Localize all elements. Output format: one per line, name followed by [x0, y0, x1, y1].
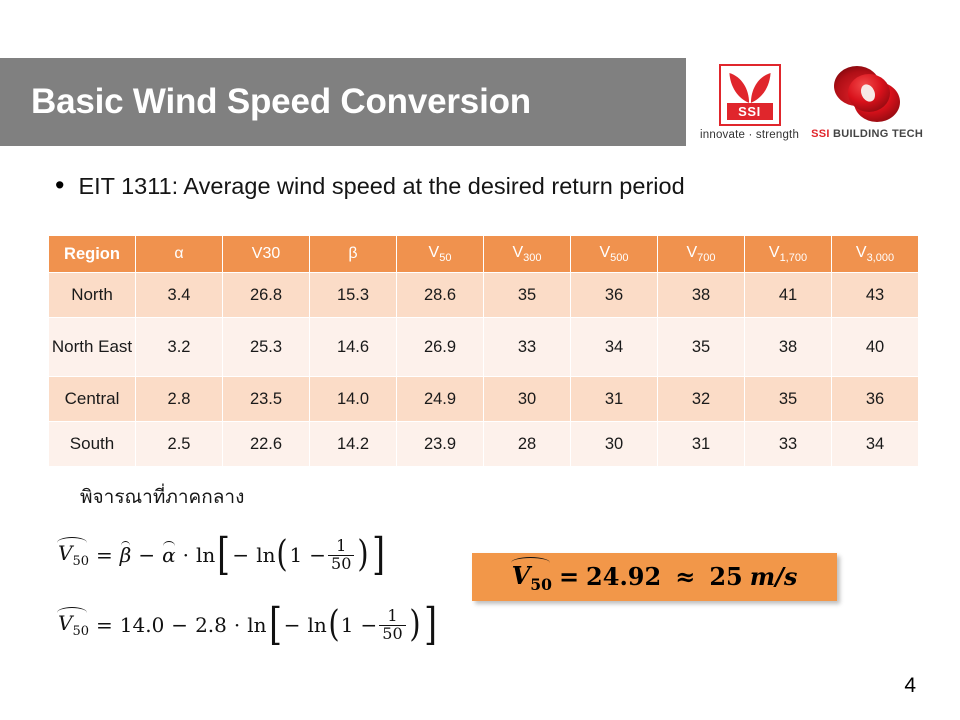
one-literal: 1 [341, 613, 354, 637]
header-label: V [429, 244, 440, 261]
header-label: β [348, 245, 357, 262]
header-label: α [174, 245, 183, 262]
table-cell: 38 [745, 318, 831, 376]
table-cell-region: North East [49, 318, 135, 376]
table-cell-region: North [49, 273, 135, 317]
table-cell: 15.3 [310, 273, 396, 317]
ssi-logo-mark: SSI [719, 64, 781, 126]
minus-frac: − [361, 613, 378, 637]
table-cell: 35 [658, 318, 744, 376]
dot-operator: · [183, 543, 189, 567]
table-cell: 36 [571, 273, 657, 317]
table-header-row-group: Region α V30 β V50 V300 V500 V700 V1,700… [49, 236, 918, 272]
header-sub: 300 [523, 252, 541, 264]
table-cell: 23.9 [397, 422, 483, 466]
ssi-logo: SSI innovate · strength [700, 64, 799, 141]
equation-symbolic: V50 = β − α · ln [ − ln ( 1 − 1 50 ) ] [58, 538, 388, 573]
v50-hat-symbol: V50 [512, 561, 552, 594]
bracket-close: ] [424, 609, 437, 641]
v-letter: V [58, 541, 72, 565]
table-cell: 14.2 [310, 422, 396, 466]
alpha-value: 2.8 [195, 613, 227, 637]
paren-close: ) [409, 612, 420, 638]
header-label: V [856, 244, 867, 261]
header-label: Region [64, 245, 120, 263]
table-header-v30: V30 [223, 236, 309, 272]
equals-sign: = [96, 543, 113, 567]
table-header-v3000: V3,000 [832, 236, 918, 272]
table-header-v1700: V1,700 [745, 236, 831, 272]
table-body: North 3.4 26.8 15.3 28.6 35 36 38 41 43 … [49, 273, 918, 466]
fraction-numerator: 1 [384, 608, 400, 625]
wind-speed-table: Region α V30 β V50 V300 V500 V700 V1,700… [48, 235, 919, 467]
table-cell: 31 [658, 422, 744, 466]
table-cell: 36 [832, 377, 918, 421]
page-number: 4 [904, 674, 916, 698]
header-label: V [686, 244, 697, 261]
ssi-logo-tagline: innovate · strength [700, 129, 799, 141]
table-cell: 2.5 [136, 422, 222, 466]
table-row: South 2.5 22.6 14.2 23.9 28 30 31 33 34 [49, 422, 918, 466]
one-literal: 1 [290, 543, 303, 567]
minus-inner: − [232, 543, 249, 567]
table-cell: 40 [832, 318, 918, 376]
table-cell: 35 [745, 377, 831, 421]
beta-hat-symbol: β [120, 543, 132, 567]
v-letter: V [58, 611, 72, 635]
header-label: V [769, 244, 780, 261]
table-cell: 2.8 [136, 377, 222, 421]
table-header-region: Region [49, 236, 135, 272]
table-cell: 23.5 [223, 377, 309, 421]
v-subscript: 50 [530, 574, 552, 593]
fraction-denominator: 50 [328, 555, 354, 573]
paren-open: ( [328, 612, 339, 638]
table-header-row: Region α V30 β V50 V300 V500 V700 V1,700… [49, 236, 918, 272]
table-row: Central 2.8 23.5 14.0 24.9 30 31 32 35 3… [49, 377, 918, 421]
result-highlight-box: V50 = 24.92 ≈ 25 m/s [472, 553, 837, 601]
thai-note: พิจารณาที่ภาคกลาง [80, 482, 244, 512]
ln-outer: ln [247, 613, 266, 637]
bullet-text: EIT 1311: Average wind speed at the desi… [78, 173, 684, 200]
table-cell: 26.8 [223, 273, 309, 317]
table-header-v500: V500 [571, 236, 657, 272]
ssi-building-tech-logo: SSI BUILDING TECH [811, 64, 923, 140]
fraction-one-over-fifty: 1 50 [328, 538, 354, 573]
table-cell-region: Central [49, 377, 135, 421]
table-cell-region: South [49, 422, 135, 466]
header-label: V30 [252, 245, 280, 262]
header-sub: 700 [697, 252, 715, 264]
table-cell: 33 [745, 422, 831, 466]
result-equation: V50 = 24.92 ≈ 25 m/s [512, 561, 798, 594]
v50-hat-symbol: V50 [58, 541, 89, 569]
fraction-one-over-fifty: 1 50 [379, 608, 405, 643]
table-cell: 31 [571, 377, 657, 421]
building-tech-tagline-rest: BUILDING TECH [830, 128, 923, 140]
table-cell: 33 [484, 318, 570, 376]
bracket-close: ] [373, 539, 386, 571]
v-letter: V [512, 561, 531, 590]
table-cell: 22.6 [223, 422, 309, 466]
table-header-v700: V700 [658, 236, 744, 272]
fraction-denominator: 50 [379, 625, 405, 643]
table-cell: 14.0 [310, 377, 396, 421]
bracket-open: [ [217, 539, 230, 571]
title-bar: Basic Wind Speed Conversion [0, 58, 686, 146]
minus-sign: − [171, 613, 188, 637]
table-cell: 30 [484, 377, 570, 421]
equals-sign: = [96, 613, 113, 637]
table-cell: 25.3 [223, 318, 309, 376]
table-cell: 26.9 [397, 318, 483, 376]
ln-inner: ln [307, 613, 326, 637]
table-cell: 41 [745, 273, 831, 317]
table-cell: 38 [658, 273, 744, 317]
table-cell: 24.9 [397, 377, 483, 421]
minus-frac: − [309, 543, 326, 567]
table-cell: 14.6 [310, 318, 396, 376]
beta-value: 14.0 [120, 613, 165, 637]
header-label: V [599, 244, 610, 261]
v-subscript: 50 [72, 554, 89, 569]
header-sub: 1,700 [780, 252, 808, 264]
table-row: North East 3.2 25.3 14.6 26.9 33 34 35 3… [49, 318, 918, 376]
paren-open: ( [277, 542, 288, 568]
header-sub: 50 [439, 252, 451, 264]
ssi-leaf-icon [721, 69, 779, 105]
ln-outer: ln [196, 543, 215, 567]
table-cell: 3.2 [136, 318, 222, 376]
table-cell: 34 [832, 422, 918, 466]
table-header-alpha: α [136, 236, 222, 272]
alpha-hat-symbol: α [162, 543, 176, 567]
page-title: Basic Wind Speed Conversion [0, 82, 531, 122]
slide-canvas: Basic Wind Speed Conversion SSI innovate… [0, 0, 960, 720]
bullet-marker-icon: • [55, 172, 64, 199]
table-cell: 34 [571, 318, 657, 376]
coil-spiral-icon [829, 64, 905, 126]
ln-inner: ln [256, 543, 275, 567]
result-unit: m/s [750, 562, 798, 591]
equation-numeric: V50 = 14.0 − 2.8 · ln [ − ln ( 1 − 1 50 … [58, 608, 439, 643]
table-cell: 28 [484, 422, 570, 466]
table-header-beta: β [310, 236, 396, 272]
table-header-v50: V50 [397, 236, 483, 272]
dot-operator: · [234, 613, 240, 637]
table-cell: 28.6 [397, 273, 483, 317]
minus-sign: − [138, 543, 155, 567]
table-cell: 32 [658, 377, 744, 421]
header-sub: 3,000 [867, 252, 895, 264]
table-cell: 3.4 [136, 273, 222, 317]
v-subscript: 50 [72, 624, 89, 639]
result-rounded: 25 [709, 562, 742, 591]
v50-hat-symbol: V50 [58, 611, 89, 639]
header-sub: 500 [610, 252, 628, 264]
table-row: North 3.4 26.8 15.3 28.6 35 36 38 41 43 [49, 273, 918, 317]
bracket-open: [ [269, 609, 282, 641]
table-cell: 30 [571, 422, 657, 466]
table-cell: 35 [484, 273, 570, 317]
ssi-logo-wordmark: SSI [727, 103, 773, 120]
minus-inner: − [284, 613, 301, 637]
table-cell: 43 [832, 273, 918, 317]
table-header-v300: V300 [484, 236, 570, 272]
approx-sign: ≈ [675, 562, 695, 591]
logo-group: SSI innovate · strength [700, 58, 955, 148]
bullet-row: • EIT 1311: Average wind speed at the de… [55, 172, 685, 200]
result-value: 24.92 [586, 562, 661, 591]
paren-close: ) [358, 542, 369, 568]
equals-sign: = [559, 562, 579, 591]
building-tech-tagline-red: SSI [811, 128, 830, 140]
fraction-numerator: 1 [333, 538, 349, 555]
building-tech-tagline: SSI BUILDING TECH [811, 128, 923, 140]
header-label: V [512, 244, 523, 261]
